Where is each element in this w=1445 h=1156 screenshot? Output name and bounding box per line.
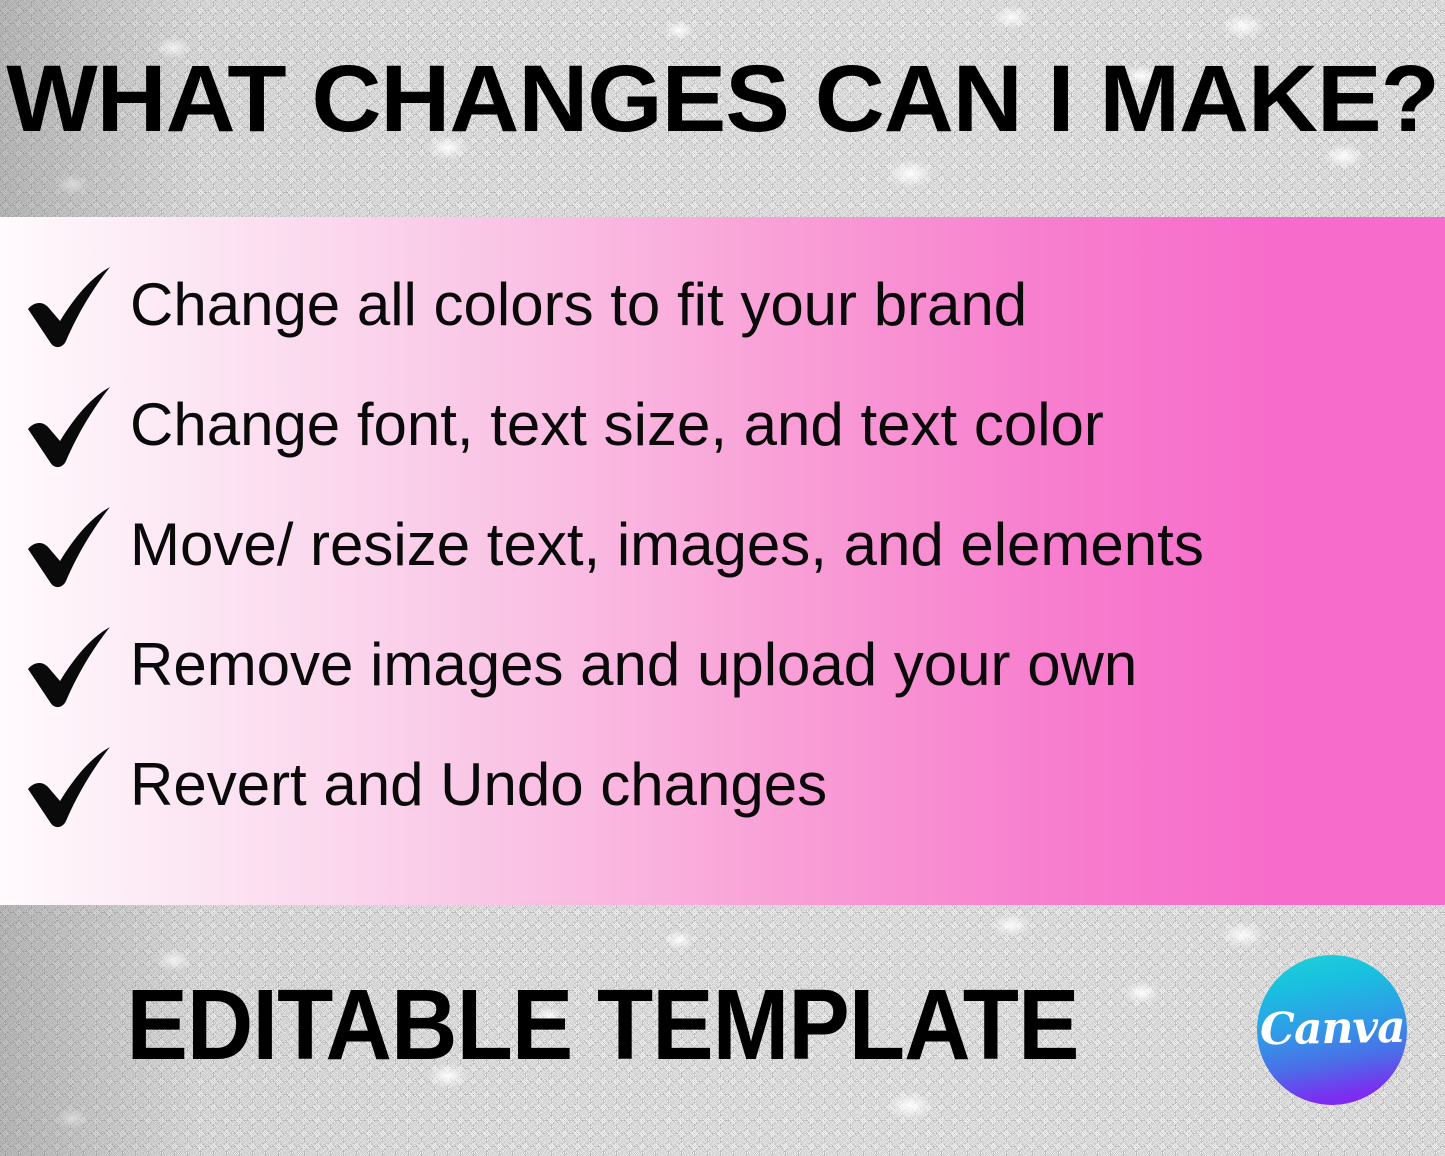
list-item: Move/ resize text, images, and elements — [0, 485, 1445, 605]
poster-canvas: WHAT CHANGES CAN I MAKE? Change all colo… — [0, 0, 1445, 1156]
list-item: Change font, text size, and text color — [0, 365, 1445, 485]
checkmark-icon — [0, 257, 130, 353]
list-item: Revert and Undo changes — [0, 725, 1445, 845]
list-item-label: Move/ resize text, images, and elements — [130, 515, 1204, 575]
footer-title: EDITABLE TEMPLATE — [0, 975, 1267, 1075]
checkmark-icon — [0, 377, 130, 473]
checkmark-icon — [0, 497, 130, 593]
list-item-label: Change all colors to fit your brand — [130, 275, 1027, 335]
list-item-label: Change font, text size, and text color — [130, 395, 1104, 455]
list-item: Change all colors to fit your brand — [0, 245, 1445, 365]
list-item-label: Revert and Undo changes — [130, 755, 827, 815]
canva-wordmark: Canva — [1259, 1001, 1404, 1055]
canva-logo-icon: Canva — [1257, 955, 1407, 1105]
checkmark-icon — [0, 737, 130, 833]
list-item: Remove images and upload your own — [0, 605, 1445, 725]
feature-checklist: Change all colors to fit your brand Chan… — [0, 245, 1445, 845]
page-title: WHAT CHANGES CAN I MAKE? — [0, 52, 1445, 147]
list-item-label: Remove images and upload your own — [130, 635, 1137, 695]
checkmark-icon — [0, 617, 130, 713]
